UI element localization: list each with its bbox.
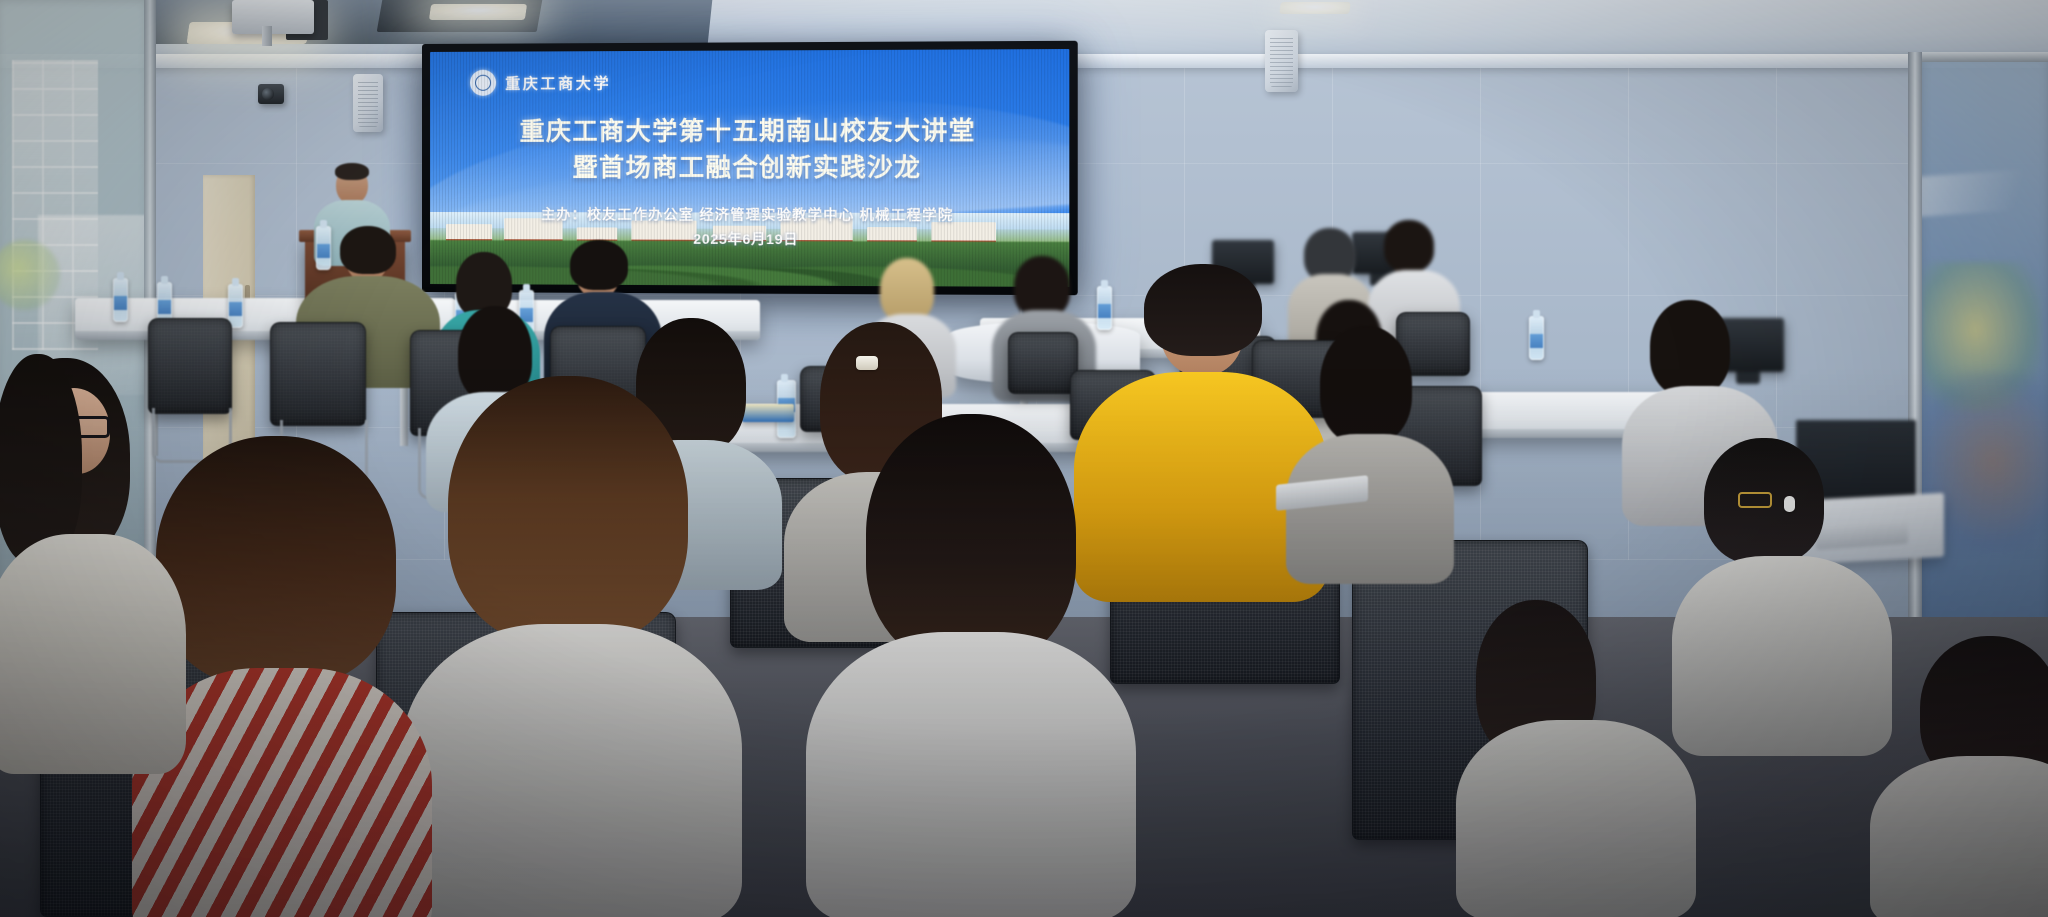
slide-content: 重庆工商大学 重庆工商大学第十五期南山校友大讲堂 暨首场商工融合创新实践沙龙 主… bbox=[430, 49, 1069, 287]
ceiling-light-secondary-icon bbox=[429, 4, 527, 20]
attendee-hair bbox=[448, 376, 688, 644]
attendee-hair bbox=[866, 414, 1076, 664]
ceiling-light-far-icon bbox=[1279, 2, 1351, 14]
attendee-torso bbox=[1456, 720, 1696, 917]
hair-clip-icon bbox=[856, 356, 878, 370]
glass-frame bbox=[1908, 52, 1922, 672]
lecture-hall-photo: 重庆工商大学 重庆工商大学第十五期南山校友大讲堂 暨首场商工融合创新实践沙龙 主… bbox=[0, 0, 2048, 917]
glass-highlight bbox=[1911, 167, 2048, 217]
attendee-hair bbox=[156, 436, 396, 686]
water-bottle bbox=[1097, 286, 1112, 330]
bottle-label bbox=[114, 296, 127, 310]
chair bbox=[148, 318, 232, 414]
projector-icon bbox=[232, 0, 314, 34]
projector-mount bbox=[262, 26, 272, 46]
speaker-icon bbox=[1265, 30, 1298, 92]
attendee-hair bbox=[0, 354, 82, 564]
water-bottle bbox=[316, 226, 331, 270]
slide-organizers: 主办：校友工作办公室 经济管理实验教学中心 机械工程学院 bbox=[430, 204, 1069, 225]
attendee-hair bbox=[570, 240, 628, 290]
attendee-hair bbox=[1320, 326, 1412, 444]
bottle-label bbox=[229, 302, 242, 316]
attendee-hair bbox=[1384, 220, 1434, 272]
bottle-label bbox=[158, 300, 171, 314]
attendee-hair-blonde bbox=[880, 258, 934, 322]
chair bbox=[270, 322, 366, 426]
attendee-hair bbox=[1144, 264, 1262, 356]
bottle-label bbox=[317, 244, 330, 258]
attendee-torso bbox=[1672, 556, 1892, 756]
university-logo: 重庆工商大学 bbox=[470, 69, 611, 96]
university-emblem-icon bbox=[470, 70, 496, 96]
attendee-hair bbox=[340, 226, 396, 274]
attendee-torso bbox=[1286, 434, 1454, 584]
water-bottle bbox=[1529, 316, 1544, 360]
attendee-torso bbox=[0, 534, 186, 774]
speaker-grill bbox=[358, 79, 378, 127]
attendee-torso bbox=[1870, 756, 2048, 917]
attendee-torso bbox=[806, 632, 1136, 917]
earbud-icon bbox=[1784, 496, 1795, 512]
glasses-icon bbox=[1738, 492, 1772, 508]
chair bbox=[1008, 332, 1078, 394]
chair-back bbox=[148, 318, 232, 414]
glass-frame-top bbox=[1908, 52, 2048, 62]
water-bottle bbox=[113, 278, 128, 322]
attendee-torso bbox=[402, 624, 742, 917]
notebook bbox=[742, 404, 794, 422]
camera-icon bbox=[258, 84, 284, 104]
slide-title-line2: 暨首场商工融合创新实践沙龙 bbox=[430, 150, 1069, 187]
bottle-label bbox=[1098, 304, 1111, 318]
slide-surface: 重庆工商大学 重庆工商大学第十五期南山校友大讲堂 暨首场商工融合创新实践沙龙 主… bbox=[430, 49, 1069, 287]
presenter-hair bbox=[335, 163, 369, 180]
attendee-hair bbox=[1014, 256, 1070, 318]
bottle-label bbox=[1530, 334, 1543, 348]
glass-panel-icon bbox=[1916, 52, 2048, 672]
chair-back bbox=[270, 322, 366, 426]
slide-title-line1: 重庆工商大学第十五期南山校友大讲堂 bbox=[430, 113, 1069, 150]
speaker-icon bbox=[353, 74, 383, 132]
led-display: 重庆工商大学 重庆工商大学第十五期南山校友大讲堂 暨首场商工融合创新实践沙龙 主… bbox=[422, 41, 1078, 295]
attendee-hair bbox=[1650, 300, 1730, 396]
university-name: 重庆工商大学 bbox=[505, 72, 611, 93]
speaker-grill bbox=[1270, 35, 1293, 87]
slide-date: 2025年6月19日 bbox=[430, 228, 1069, 250]
chair-back bbox=[1008, 332, 1078, 394]
